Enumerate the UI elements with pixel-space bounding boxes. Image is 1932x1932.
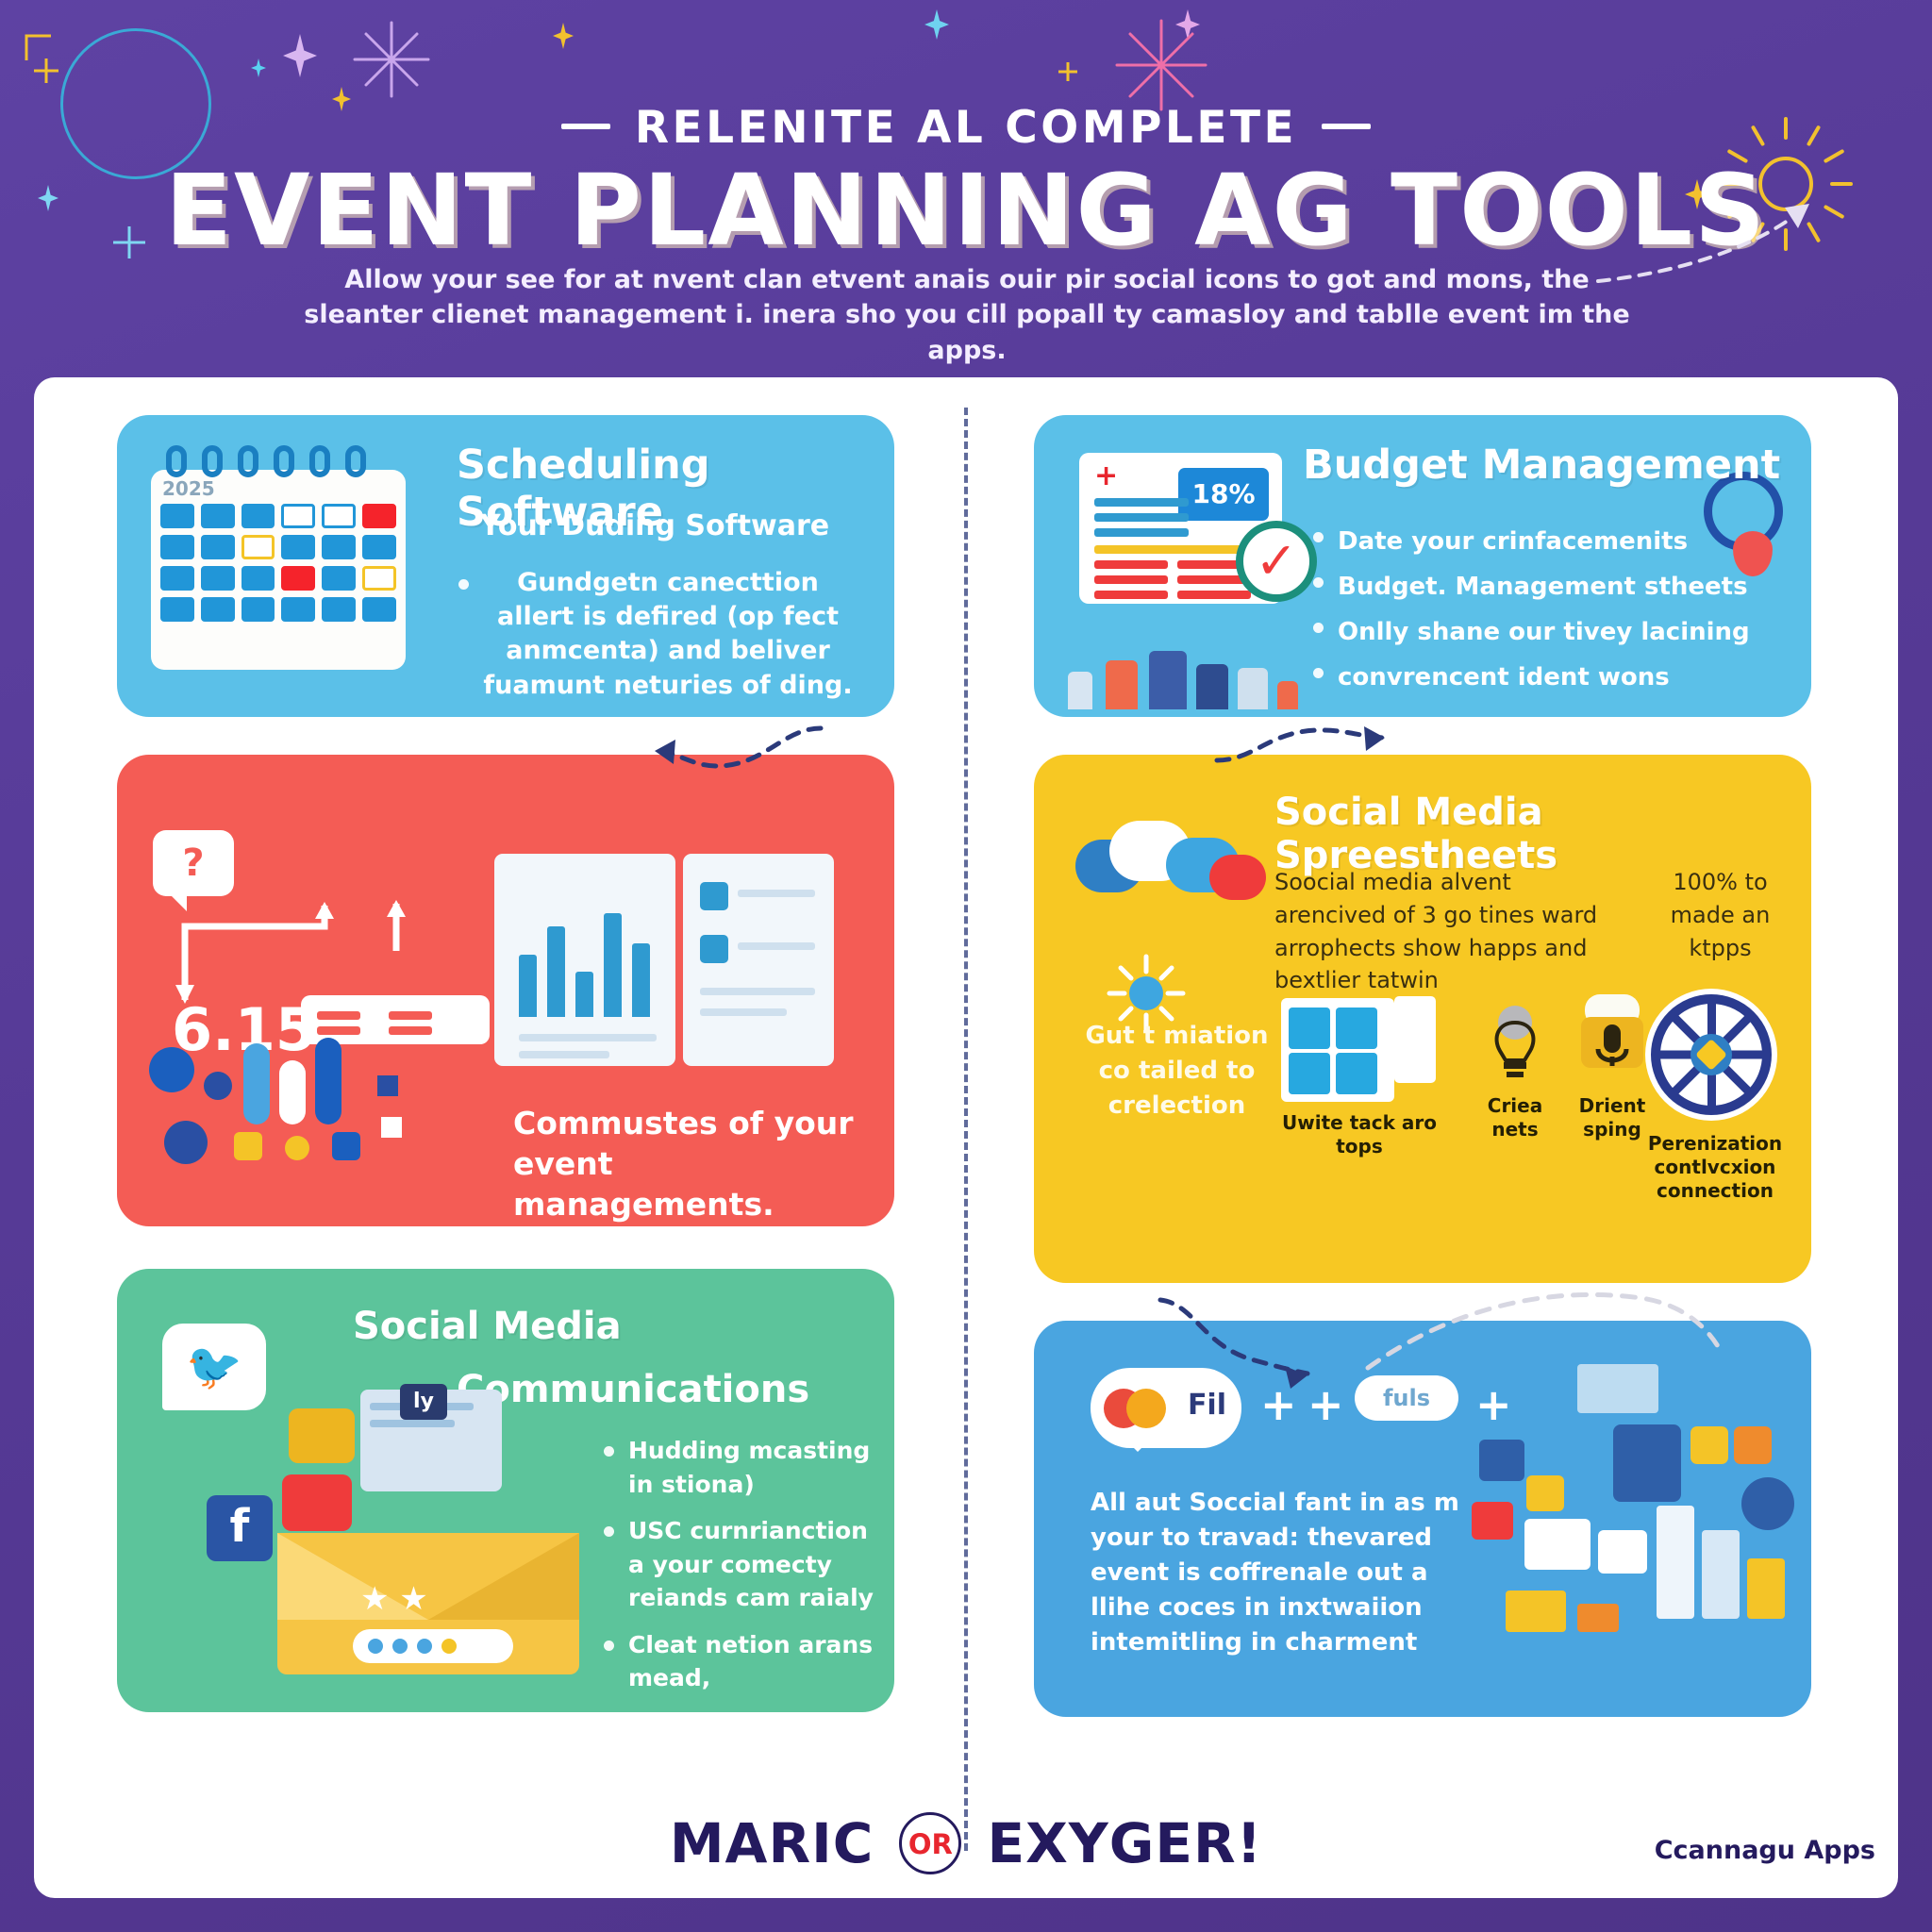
footer-word-right: EXYGER! [987, 1811, 1262, 1875]
checklist-sheet [683, 854, 834, 1066]
business-illustration [1472, 1364, 1783, 1685]
card-paragraph-right: 100% to made an ktpps [1652, 866, 1789, 964]
card-bullets: Date your crinfacemenits Budget. Managem… [1307, 519, 1751, 700]
badge-icon [1526, 1475, 1564, 1511]
dot-icon [417, 1639, 432, 1654]
bubble-label: fuls [1383, 1385, 1430, 1411]
twitter-icon: 🐦 [162, 1324, 266, 1410]
calendar-grid [160, 504, 396, 622]
dot-icon [392, 1639, 408, 1654]
chat-dots-icon [1741, 1477, 1794, 1530]
card-paragraph: Soocial media alvent arencived of 3 go t… [1274, 866, 1619, 997]
doc-icon [1598, 1530, 1647, 1574]
mail-card-icon [289, 1408, 355, 1463]
dot-icon [164, 1121, 208, 1164]
card-budget-management[interactable]: + 18% Budget Management Date your crinfa… [1034, 415, 1811, 717]
arrow-budget [1207, 717, 1424, 783]
arrow-scheduling [604, 717, 830, 783]
card-title: Social Media Spreestheets [1274, 791, 1811, 877]
mail-icon [1524, 1519, 1591, 1570]
dot-icon [285, 1136, 309, 1160]
star-icon [234, 1132, 262, 1160]
bar-icon [315, 1038, 341, 1124]
doc-line [370, 1420, 455, 1427]
bar-icon [1702, 1530, 1740, 1619]
footer-note: Ccannagu Apps [1655, 1836, 1875, 1865]
meter-seg [317, 1011, 360, 1020]
facebook-icon [332, 1132, 360, 1160]
page-subtitle: Allow your see for at nvent clan etvent … [292, 262, 1641, 368]
plus-icon: + [1094, 462, 1118, 491]
card-bullets: Hudding mcasting in stiona) USC curnrian… [598, 1434, 881, 1712]
tag-icon [1690, 1426, 1728, 1464]
list-item: Date your crinfacemenits [1307, 519, 1751, 564]
plus-icon [377, 1075, 398, 1096]
linkedin-icon [1479, 1440, 1524, 1481]
badge-icon: ly [400, 1384, 447, 1420]
bar-icon [243, 1043, 270, 1124]
list-item: USC curnrianction a your comecty reiands… [598, 1514, 881, 1615]
card-bullets: Gundgetn canecttion allert is defired (o… [453, 566, 858, 703]
calendar-icon: 2025 [151, 470, 406, 670]
list-item: Gundgetn canecttion allert is defired (o… [453, 566, 858, 703]
list-item: Onlly shane our tivey lacining [1307, 609, 1751, 655]
tool-icons-cluster [143, 1038, 474, 1207]
footer-word-left: MARIC [670, 1811, 874, 1875]
dot-icon [441, 1639, 457, 1654]
arrow-yellow-to-blue [1151, 1292, 1340, 1396]
meter-seg [389, 1011, 432, 1020]
mini-label: Uwite tack aro tops [1270, 1111, 1449, 1158]
footer-orb: OR [899, 1812, 961, 1874]
card-title: Budget Management [1303, 441, 1780, 489]
mini-label: Perenization contlvcxion connection [1630, 1132, 1800, 1203]
calendar-year: 2025 [162, 477, 215, 500]
youtube-icon [282, 1474, 352, 1531]
card-event-insights[interactable]: ? 6.15 [117, 755, 894, 1226]
panel-icon [1613, 1424, 1681, 1502]
calendar-grid-icon [1281, 998, 1394, 1102]
list-item: Cleat netion arans mead, [598, 1628, 881, 1695]
star-icon: ★ ★ [360, 1580, 428, 1618]
card-caption: Commustes of your event managements. [513, 1104, 862, 1225]
flow-line-icon [174, 894, 447, 1008]
card-title-second-line: Communications [457, 1368, 809, 1411]
dot-icon [368, 1639, 383, 1654]
bar-icon [279, 1060, 306, 1124]
list-item: Budget. Management stheets [1307, 564, 1751, 609]
pinterest-icon [1472, 1502, 1513, 1540]
tag-icon [1734, 1426, 1772, 1464]
check-circle-icon [1236, 521, 1317, 602]
card-paragraph: All aut Soccial fant in as m your to tra… [1091, 1486, 1487, 1660]
mini-label: Criea nets [1468, 1094, 1562, 1141]
sidebar-strip-icon [1394, 996, 1436, 1083]
box-icon [1506, 1591, 1566, 1632]
lightbulb-icon [1477, 1002, 1553, 1089]
meter-seg [389, 1026, 432, 1035]
meter-seg [317, 1026, 360, 1035]
card-scheduling-software[interactable]: 2025 Scheduling Software Your Duding Sof… [117, 415, 894, 717]
chart-sheet [494, 854, 675, 1066]
bar-icon [1747, 1558, 1785, 1619]
card-left-caption: Gut t miation co tailed to crelection [1075, 1019, 1278, 1124]
question-bubble-icon: ? [153, 830, 234, 896]
list-item: Hudding mcasting in stiona) [598, 1434, 881, 1501]
card-subtitle: Your Duding Software [457, 509, 853, 542]
calendar-rings [166, 445, 392, 477]
card-social-media-communications[interactable]: 🐦 Social Media Communications Hudding mc… [117, 1269, 894, 1712]
people-illustration [1068, 640, 1304, 709]
dashboard-illustration [494, 854, 834, 1066]
list-item: convrencent ident wons [1307, 655, 1751, 700]
twitter-icon [149, 1047, 194, 1092]
microphone-lock-icon [1572, 991, 1653, 1089]
arrow-header-to-sun [1585, 160, 1868, 292]
footer-logo: MARIC OR EXYGER! [0, 1811, 1932, 1875]
facebook-icon: f [207, 1495, 273, 1561]
chat-bubbles-illustration [1075, 821, 1264, 924]
dash-left [561, 124, 610, 129]
percent-badge: 18% [1178, 468, 1269, 521]
eyebrow-text: RELENITE AL COMPLETE [0, 102, 1932, 154]
bar-icon [1657, 1506, 1694, 1619]
arrow-curve-light [1358, 1264, 1736, 1387]
plus-icon [381, 1117, 402, 1138]
dot-icon [204, 1072, 232, 1100]
box-icon [1577, 1604, 1619, 1632]
card-social-media-spreadsheets[interactable]: Social Media Spreestheets Soocial media … [1034, 755, 1811, 1283]
column-divider [964, 408, 968, 1851]
wheel-icon [1645, 989, 1777, 1121]
card-title: Social Media [353, 1305, 622, 1348]
dash-right [1322, 124, 1371, 129]
list-item: Meak baance adlinning [598, 1708, 881, 1713]
